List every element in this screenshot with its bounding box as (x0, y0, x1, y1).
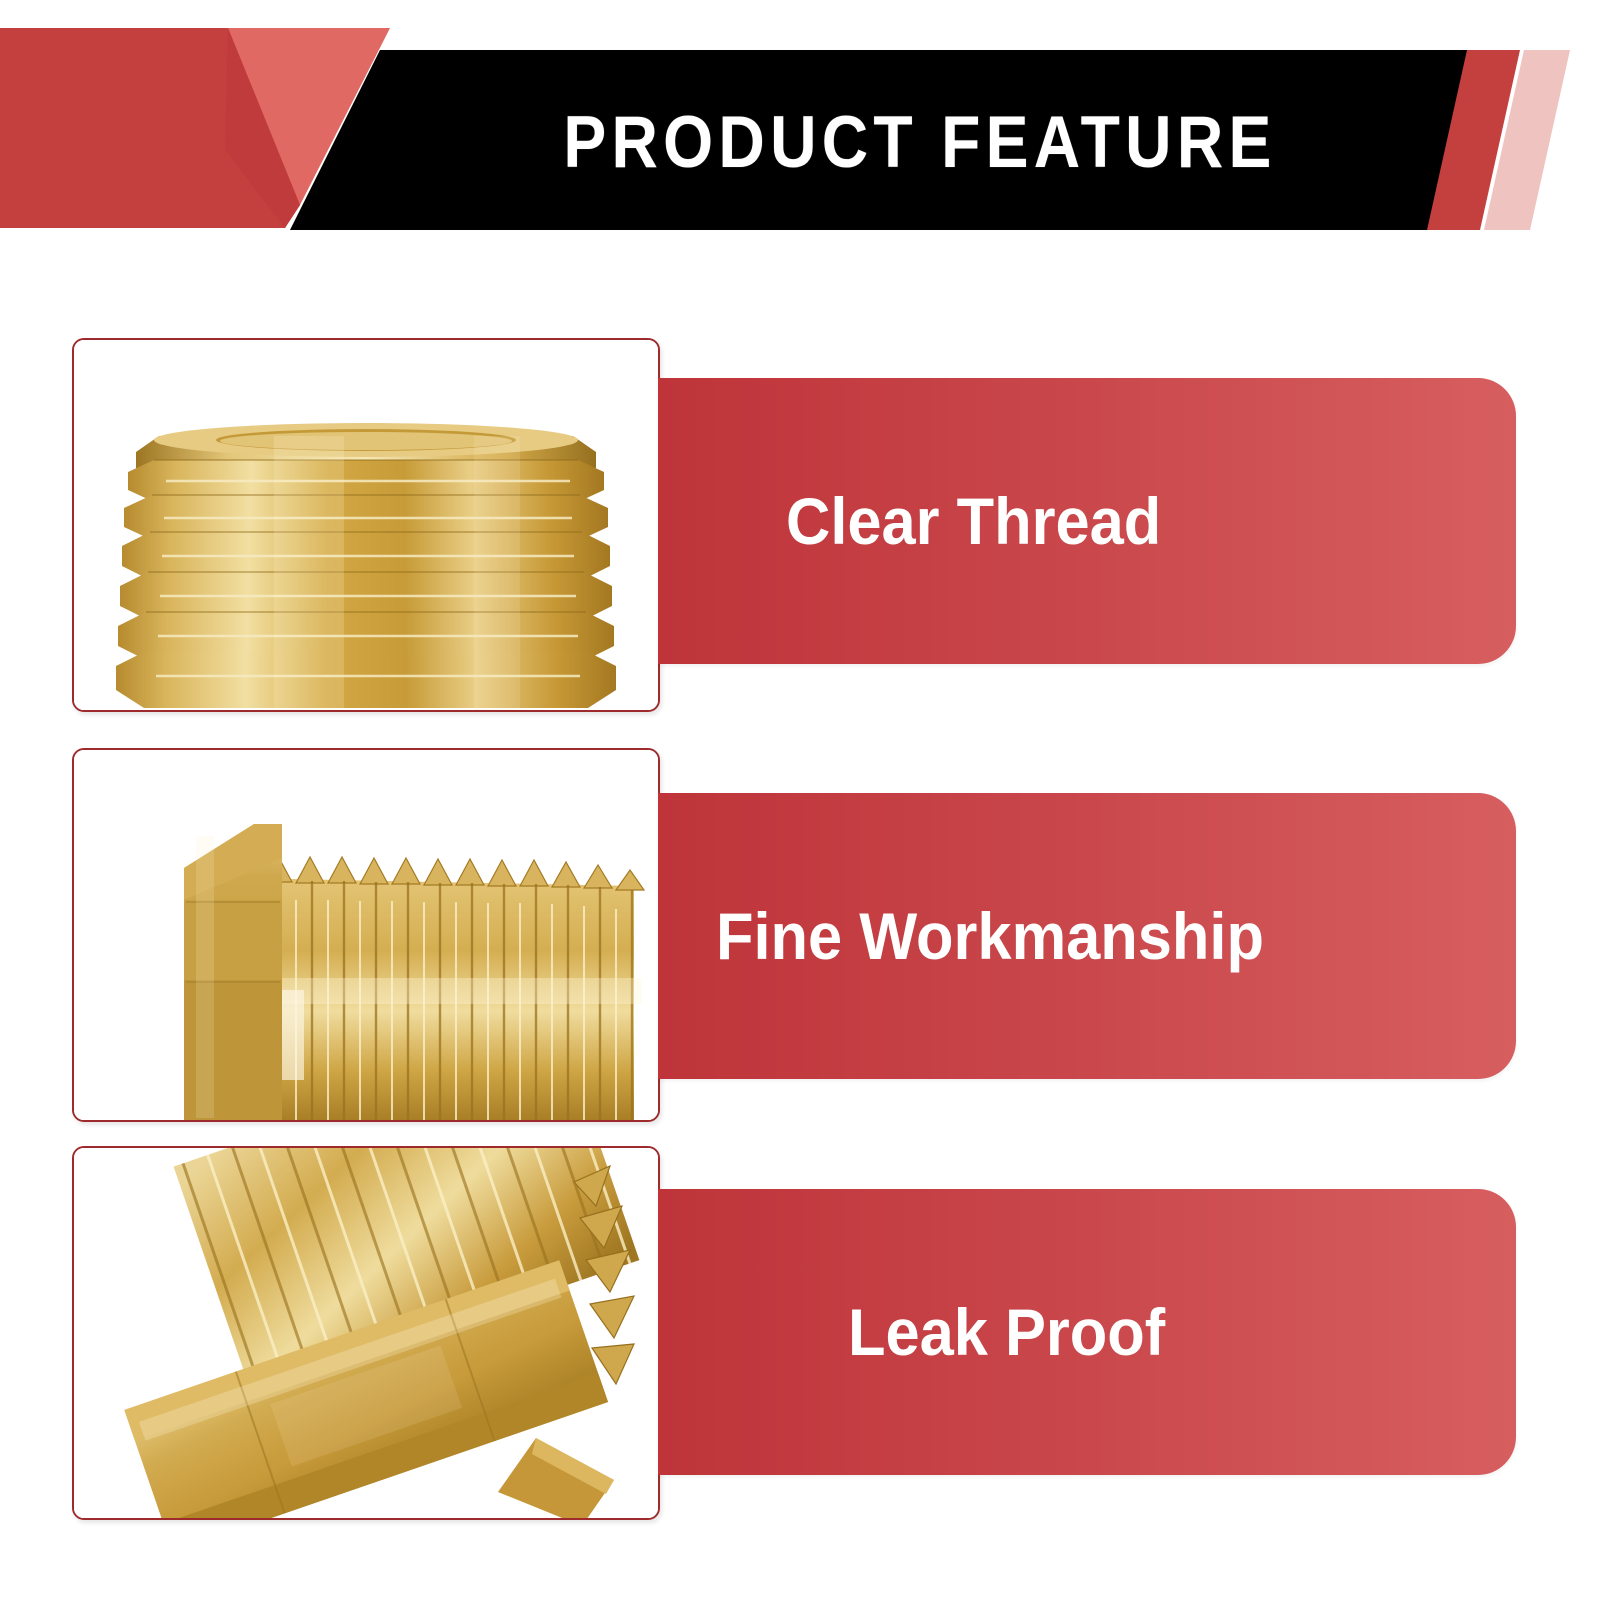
product-feature-infographic: PRODUCT FEATURE (0, 0, 1600, 1600)
brass-hex-head-plug-angled-icon (74, 1148, 658, 1518)
page-title: PRODUCT FEATURE (445, 56, 1395, 228)
brass-hex-head-plug-side-icon (74, 750, 658, 1120)
feature-bar-3[interactable]: Leak Proof (658, 1189, 1516, 1475)
feature-image-card-2 (72, 748, 660, 1122)
feature-image-card-1 (72, 338, 660, 712)
feature-label-2: Fine Workmanship (716, 903, 1264, 969)
brass-threaded-fitting-closeup-icon (74, 340, 658, 710)
feature-image-card-3 (72, 1146, 660, 1520)
feature-bar-2[interactable]: Fine Workmanship (658, 793, 1516, 1079)
feature-label-1: Clear Thread (786, 488, 1161, 554)
feature-bar-1[interactable]: Clear Thread (658, 378, 1516, 664)
feature-label-3: Leak Proof (848, 1299, 1165, 1365)
header-banner: PRODUCT FEATURE (0, 0, 1600, 260)
